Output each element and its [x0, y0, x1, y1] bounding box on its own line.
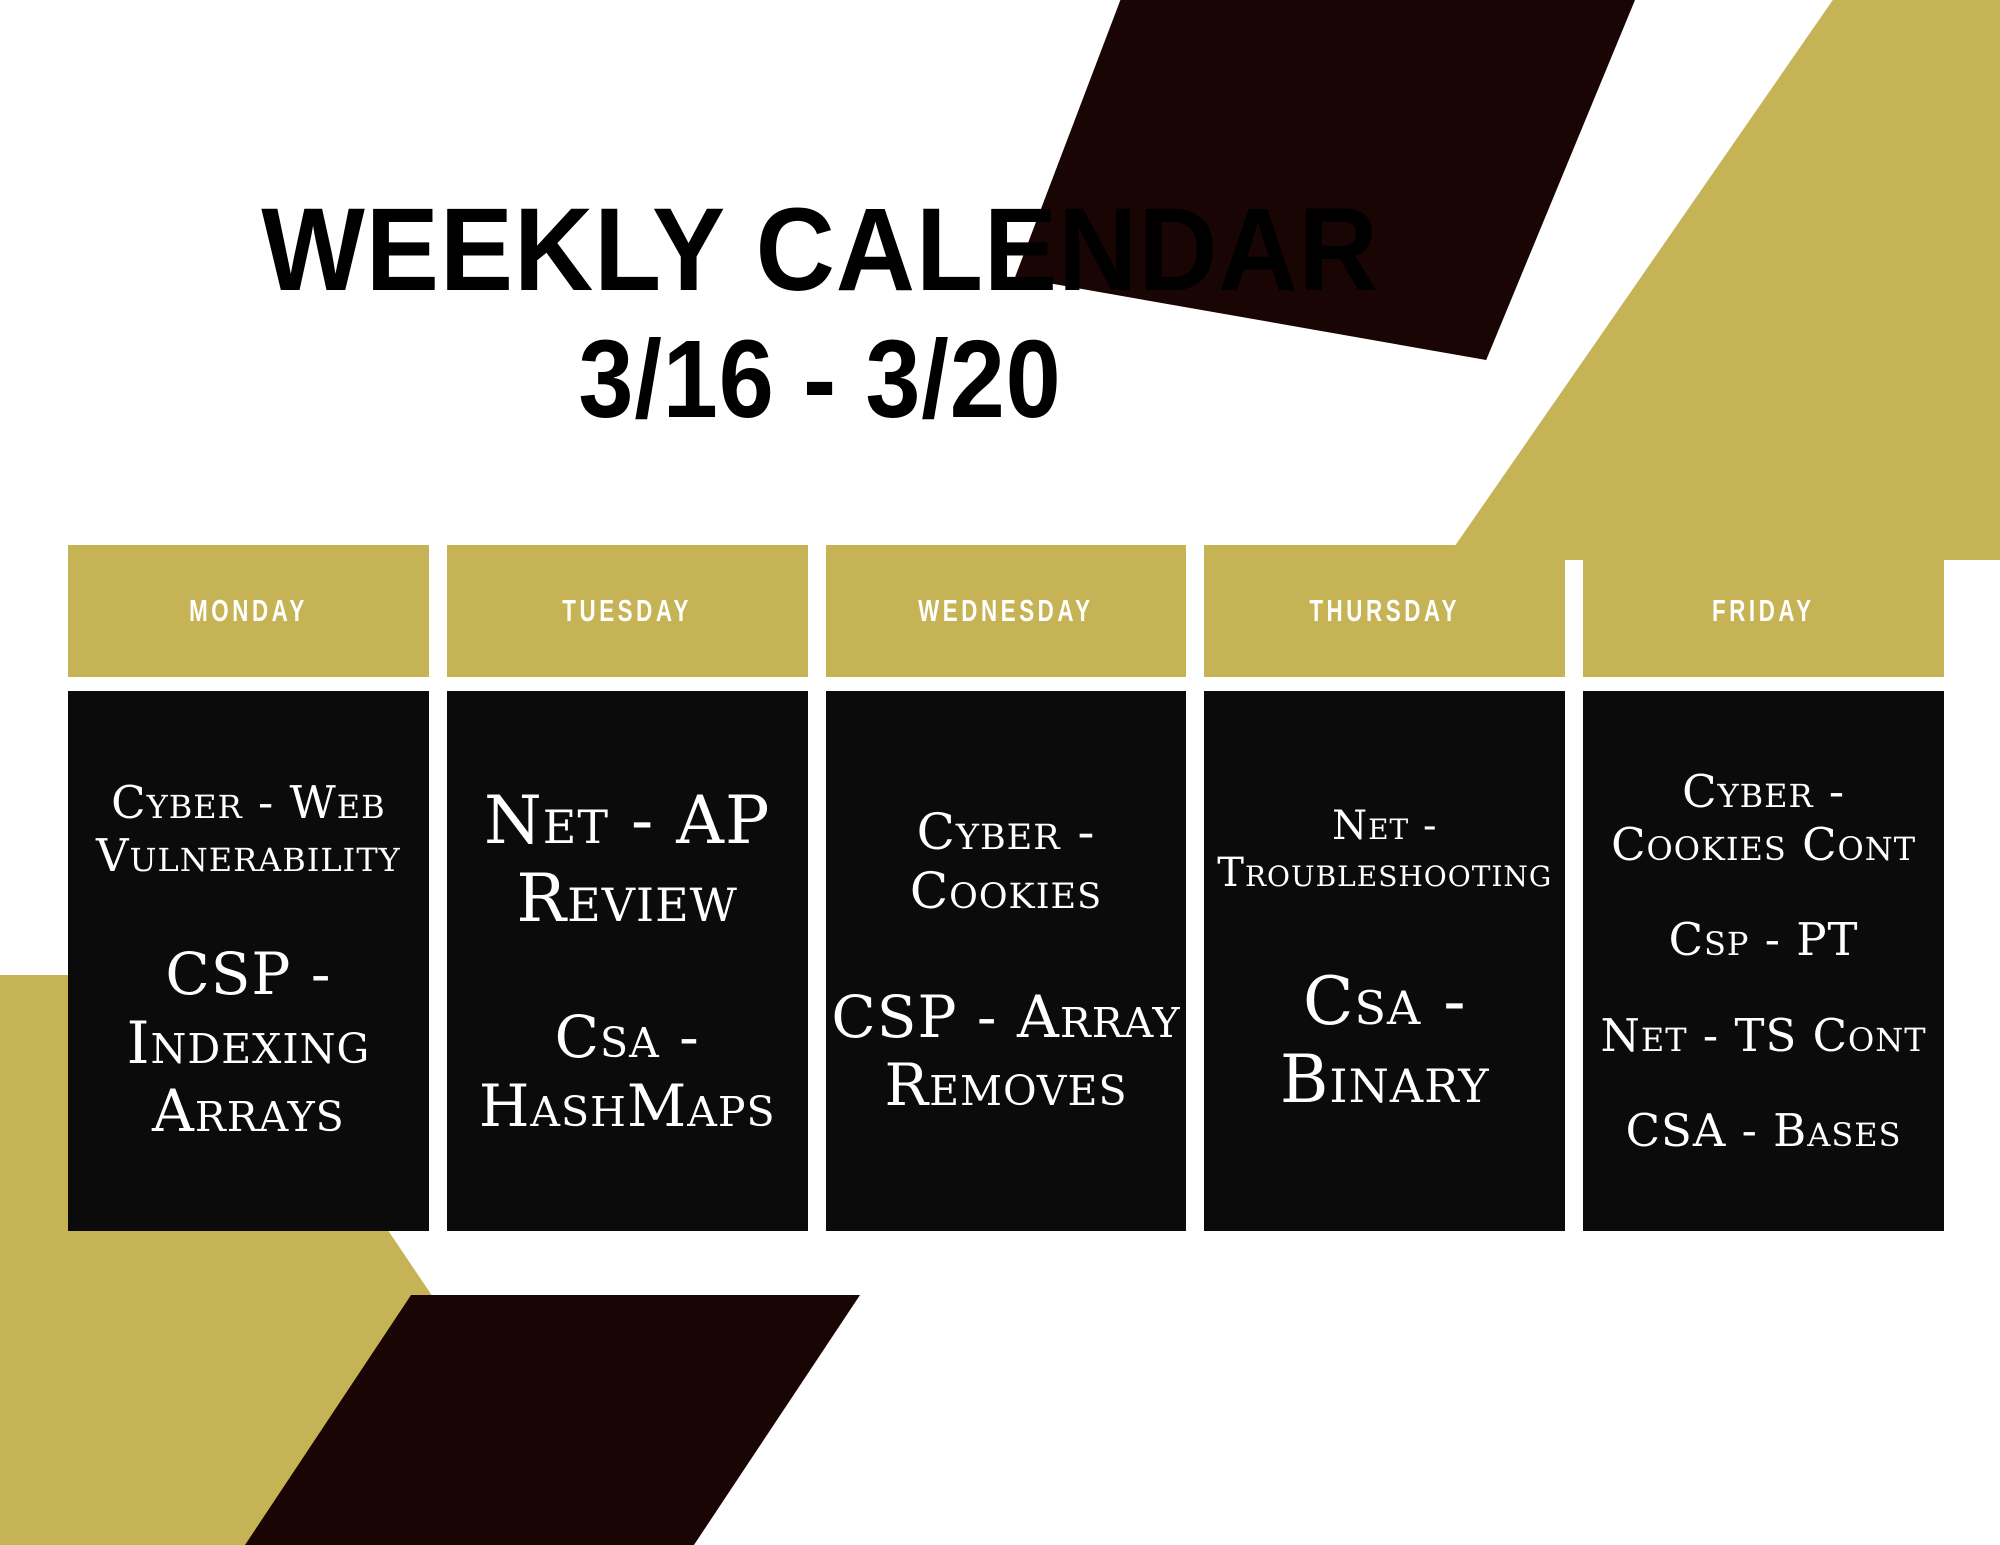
day-column-wednesday[interactable]: WEDNESDAY Cyber - Cookies CSP - Array Re…	[826, 545, 1187, 1231]
day-header-monday: MONDAY	[68, 545, 429, 677]
day-label-wednesday: WEDNESDAY	[918, 593, 1093, 629]
day-header-thursday: THURSDAY	[1204, 545, 1565, 677]
day-header-tuesday: TUESDAY	[447, 545, 808, 677]
calendar-entry: Cyber - Web Vulnerability	[72, 776, 425, 882]
page-title: WEEKLY CALENDAR	[57, 190, 1582, 310]
calendar-entry: CSP - Indexing Arrays	[72, 940, 425, 1145]
calendar-entry: Net - AP Review	[451, 782, 804, 938]
day-column-thursday[interactable]: THURSDAY Net - Troubleshooting Csa - Bin…	[1204, 545, 1565, 1231]
day-header-wednesday: WEDNESDAY	[826, 545, 1187, 677]
calendar-grid: MONDAY Cyber - Web Vulnerability CSP - I…	[68, 545, 1944, 1231]
day-column-monday[interactable]: MONDAY Cyber - Web Vulnerability CSP - I…	[68, 545, 429, 1231]
calendar-entry: Cyber - Cookies	[830, 803, 1183, 921]
page-subtitle: 3/16 - 3/20	[82, 322, 1558, 438]
day-body-thursday: Net - Troubleshooting Csa - Binary	[1204, 691, 1565, 1231]
calendar-entry: CSA - Bases	[1587, 1104, 1940, 1157]
day-body-wednesday: Cyber - Cookies CSP - Array Removes	[826, 691, 1187, 1231]
day-label-thursday: THURSDAY	[1309, 593, 1460, 629]
day-label-tuesday: TUESDAY	[562, 593, 692, 629]
calendar-entry: CSP - Array Removes	[830, 983, 1183, 1120]
calendar-entry: Csp - PT	[1587, 913, 1940, 966]
day-label-monday: MONDAY	[189, 593, 308, 629]
poster-heading: WEEKLY CALENDAR 3/16 - 3/20	[0, 0, 1640, 438]
day-header-friday: FRIDAY	[1583, 545, 1944, 677]
calendar-entry: Net - Troubleshooting	[1208, 803, 1561, 897]
day-column-friday[interactable]: FRIDAY Cyber - Cookies Cont Csp - PT Net…	[1583, 545, 1944, 1231]
calendar-entry: Csa - Binary	[1208, 963, 1561, 1119]
day-body-monday: Cyber - Web Vulnerability CSP - Indexing…	[68, 691, 429, 1231]
day-body-friday: Cyber - Cookies Cont Csp - PT Net - TS C…	[1583, 691, 1944, 1231]
weekly-calendar-poster: WEEKLY CALENDAR 3/16 - 3/20 MONDAY Cyber…	[0, 0, 2000, 1545]
bottom-left-dark-parallelogram-shape	[245, 1295, 860, 1545]
day-label-friday: FRIDAY	[1712, 593, 1815, 629]
day-body-tuesday: Net - AP Review Csa - HashMaps	[447, 691, 808, 1231]
calendar-entry: Csa - HashMaps	[451, 1003, 804, 1140]
calendar-entry: Cyber - Cookies Cont	[1587, 765, 1940, 871]
calendar-entry: Net - TS Cont	[1587, 1009, 1940, 1062]
day-column-tuesday[interactable]: TUESDAY Net - AP Review Csa - HashMaps	[447, 545, 808, 1231]
